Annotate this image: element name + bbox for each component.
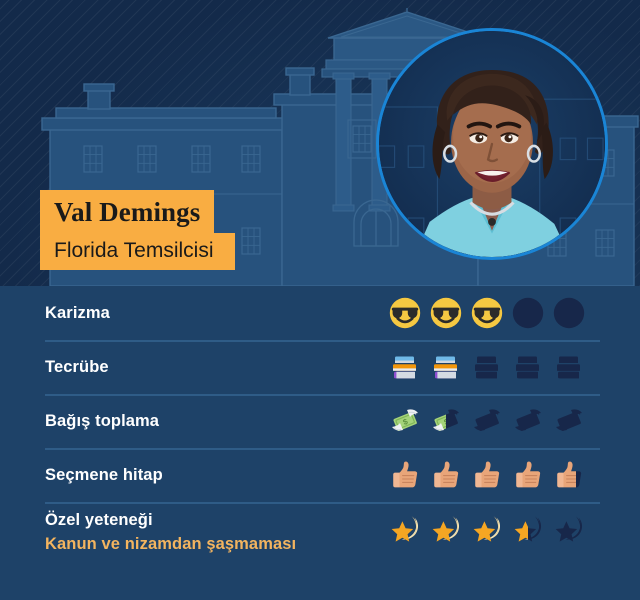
rating-label: Bağış toplama	[45, 412, 388, 431]
rating-row: Seçmene hitap	[0, 448, 640, 502]
books-icon	[429, 350, 463, 384]
name-banner: Val Demings Florida Temsilcisi	[40, 190, 235, 270]
shooting-star-icon	[429, 511, 463, 545]
money-with-wings-icon	[552, 404, 586, 438]
thumbs-up-icon	[552, 458, 586, 492]
politician-name: Val Demings	[40, 190, 214, 234]
rating-row: Karizma	[0, 286, 640, 340]
rating-value-icons	[388, 511, 600, 545]
rating-row: Tecrübe	[0, 340, 640, 394]
rating-rows-container: KarizmaTecrübeBağış toplamaSeçmene hitap…	[0, 286, 640, 566]
rating-value-icons	[388, 404, 600, 438]
books-icon	[511, 350, 545, 384]
rating-label: Tecrübe	[45, 358, 388, 377]
thumbs-up-icon	[388, 458, 422, 492]
shooting-star-icon	[388, 511, 422, 545]
rating-label: Karizma	[45, 304, 388, 323]
rating-label: Özel yeteneğiKanun ve nizamdan şaşmaması	[45, 511, 388, 554]
rating-row: Bağış toplama	[0, 394, 640, 448]
card-header: Val Demings Florida Temsilcisi	[0, 0, 640, 286]
rating-label: Seçmene hitap	[45, 466, 388, 485]
books-icon	[388, 350, 422, 384]
money-with-wings-icon	[511, 404, 545, 438]
sunglasses-face-icon	[552, 296, 586, 330]
rating-value-icons	[388, 458, 600, 492]
thumbs-up-icon	[429, 458, 463, 492]
thumbs-up-icon	[511, 458, 545, 492]
sunglasses-face-icon	[429, 296, 463, 330]
rating-sublabel: Kanun ve nizamdan şaşmaması	[45, 535, 388, 554]
row-separator	[45, 448, 600, 450]
rating-row: Özel yeteneğiKanun ve nizamdan şaşmaması	[0, 502, 640, 566]
shooting-star-icon	[552, 511, 586, 545]
shooting-star-icon	[511, 511, 545, 545]
row-separator	[45, 394, 600, 396]
sunglasses-face-icon	[470, 296, 504, 330]
money-with-wings-icon	[388, 404, 422, 438]
ratings-section: $	[0, 286, 640, 600]
politician-rating-card: Val Demings Florida Temsilcisi	[0, 0, 640, 600]
books-icon	[470, 350, 504, 384]
money-with-wings-icon	[470, 404, 504, 438]
politician-role: Florida Temsilcisi	[40, 233, 235, 270]
row-separator	[45, 340, 600, 342]
books-icon	[552, 350, 586, 384]
row-separator	[45, 502, 600, 504]
rating-value-icons	[388, 296, 600, 330]
thumbs-up-icon	[470, 458, 504, 492]
rating-value-icons	[388, 350, 600, 384]
shooting-star-icon	[470, 511, 504, 545]
portrait-avatar	[376, 28, 608, 260]
sunglasses-face-icon	[388, 296, 422, 330]
sunglasses-face-icon	[511, 296, 545, 330]
money-with-wings-icon	[429, 404, 463, 438]
